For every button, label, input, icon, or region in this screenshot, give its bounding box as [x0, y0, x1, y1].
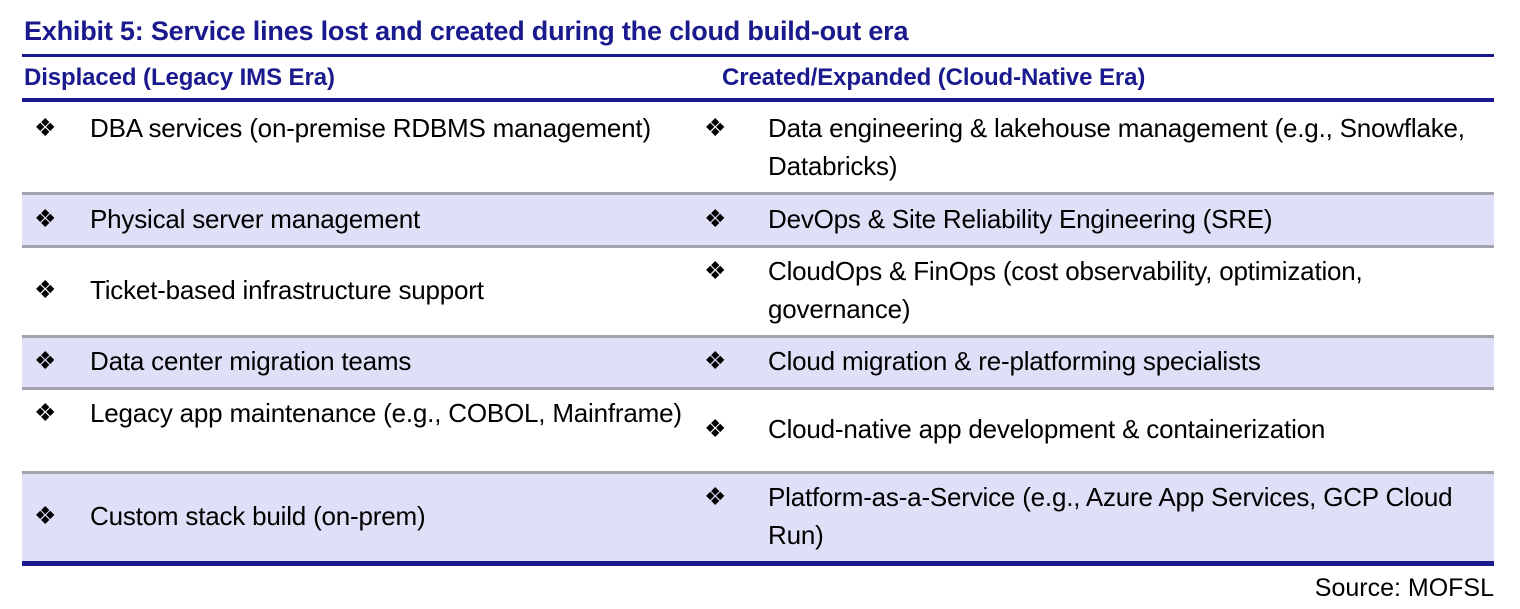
item-text: Cloud migration & re-platforming special… — [768, 342, 1484, 380]
cell-created: ❖ Data engineering & lakehouse managemen… — [700, 102, 1494, 192]
diamond-bullet-icon: ❖ — [700, 252, 768, 290]
item-text: Ticket-based infrastructure support — [90, 271, 690, 309]
column-header-row: Displaced (Legacy IMS Era) Created/Expan… — [0, 57, 1520, 98]
exhibit-table-figure: Exhibit 5: Service lines lost and create… — [0, 0, 1520, 609]
table-row: ❖ DBA services (on-premise RDBMS managem… — [22, 102, 1494, 192]
diamond-bullet-icon: ❖ — [28, 200, 90, 238]
diamond-bullet-icon: ❖ — [700, 109, 768, 147]
cell-displaced: ❖ Ticket-based infrastructure support — [22, 245, 700, 335]
item-text: Data engineering & lakehouse management … — [768, 109, 1484, 185]
cell-created: ❖ Cloud migration & re-platforming speci… — [700, 335, 1494, 387]
cell-created: ❖ DevOps & Site Reliability Engineering … — [700, 192, 1494, 245]
item-text: Legacy app maintenance (e.g., COBOL, Mai… — [90, 394, 690, 432]
cell-displaced: ❖ Data center migration teams — [22, 335, 700, 387]
cell-created: ❖ Platform-as-a-Service (e.g., Azure App… — [700, 471, 1494, 561]
diamond-bullet-icon: ❖ — [28, 394, 90, 432]
column-header-displaced: Displaced (Legacy IMS Era) — [0, 64, 700, 92]
diamond-bullet-icon: ❖ — [700, 342, 768, 380]
table-row: ❖ Custom stack build (on-prem) ❖ Platfor… — [22, 471, 1494, 561]
item-text: DevOps & Site Reliability Engineering (S… — [768, 200, 1484, 238]
item-text: DBA services (on-premise RDBMS managemen… — [90, 109, 690, 147]
diamond-bullet-icon: ❖ — [700, 410, 768, 448]
exhibit-title: Exhibit 5: Service lines lost and create… — [0, 0, 1520, 54]
cell-displaced: ❖ Custom stack build (on-prem) — [22, 471, 700, 561]
table-row: ❖ Physical server management ❖ DevOps & … — [22, 192, 1494, 245]
cell-displaced: ❖ Legacy app maintenance (e.g., COBOL, M… — [22, 387, 700, 471]
diamond-bullet-icon: ❖ — [28, 497, 90, 535]
cell-displaced: ❖ DBA services (on-premise RDBMS managem… — [22, 102, 700, 192]
source-note: Source: MOFSL — [0, 566, 1520, 605]
cell-created: ❖ CloudOps & FinOps (cost observability,… — [700, 245, 1494, 335]
cell-created: ❖ Cloud-native app development & contain… — [700, 387, 1494, 471]
item-text: Custom stack build (on-prem) — [90, 497, 690, 535]
column-header-created: Created/Expanded (Cloud-Native Era) — [700, 64, 1520, 92]
item-text: Cloud-native app development & container… — [768, 410, 1484, 448]
diamond-bullet-icon: ❖ — [700, 478, 768, 516]
table-row: ❖ Legacy app maintenance (e.g., COBOL, M… — [22, 387, 1494, 471]
table-body: ❖ DBA services (on-premise RDBMS managem… — [22, 102, 1494, 561]
table-row: ❖ Data center migration teams ❖ Cloud mi… — [22, 335, 1494, 387]
item-text: Physical server management — [90, 200, 690, 238]
diamond-bullet-icon: ❖ — [28, 271, 90, 309]
diamond-bullet-icon: ❖ — [28, 342, 90, 380]
diamond-bullet-icon: ❖ — [700, 200, 768, 238]
item-text: Data center migration teams — [90, 342, 690, 380]
item-text: CloudOps & FinOps (cost observability, o… — [768, 252, 1484, 328]
diamond-bullet-icon: ❖ — [28, 109, 90, 147]
table-row: ❖ Ticket-based infrastructure support ❖ … — [22, 245, 1494, 335]
item-text: Platform-as-a-Service (e.g., Azure App S… — [768, 478, 1484, 554]
cell-displaced: ❖ Physical server management — [22, 192, 700, 245]
